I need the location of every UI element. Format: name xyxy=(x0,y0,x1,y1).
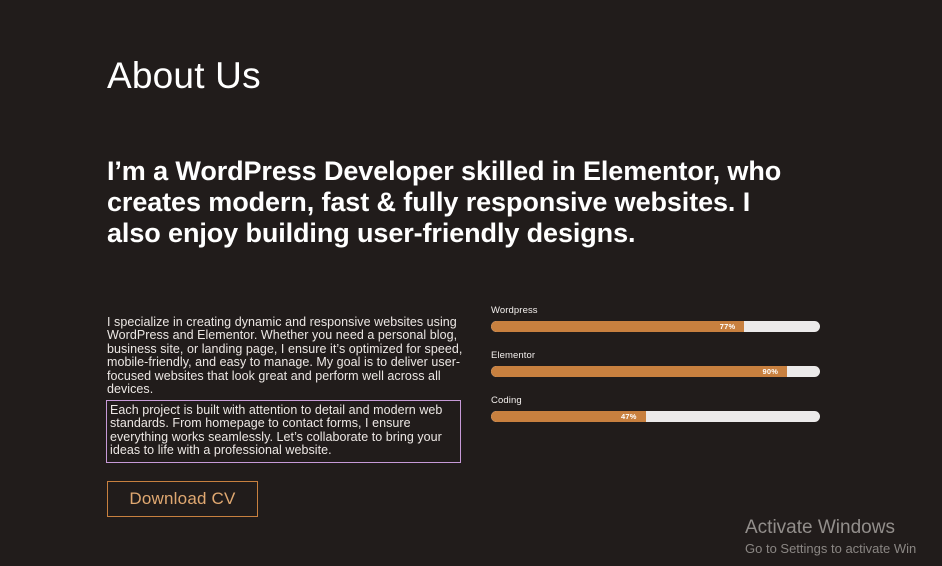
skill-item-coding: Coding 47% xyxy=(491,395,820,422)
skill-progress-fill: 47% xyxy=(491,411,646,422)
about-us-page: About Us I’m a WordPress Developer skill… xyxy=(0,0,942,566)
page-title: About Us xyxy=(107,56,261,97)
skill-progress-track: 90% xyxy=(491,366,820,377)
skill-progress-track: 47% xyxy=(491,411,820,422)
headline: I’m a WordPress Developer skilled in Ele… xyxy=(107,156,807,249)
lead-paragraph: I specialize in creating dynamic and res… xyxy=(107,316,467,398)
skill-progress-fill: 90% xyxy=(491,366,787,377)
watermark-subtitle: Go to Settings to activate Win xyxy=(745,540,942,557)
skill-progress-fill: 77% xyxy=(491,321,744,332)
highlighted-paragraph[interactable]: Each project is built with attention to … xyxy=(106,400,461,463)
windows-activation-watermark: Activate Windows Go to Settings to activ… xyxy=(745,516,942,557)
skills-list: Wordpress 77% Elementor 90% Coding 47% xyxy=(491,305,820,422)
skill-percent-label: 90% xyxy=(762,368,787,376)
skill-progress-track: 77% xyxy=(491,321,820,332)
skill-item-elementor: Elementor 90% xyxy=(491,350,820,377)
skill-item-wordpress: Wordpress 77% xyxy=(491,305,820,332)
skill-percent-label: 77% xyxy=(720,323,745,331)
skill-label: Wordpress xyxy=(491,305,820,316)
skill-label: Coding xyxy=(491,395,820,406)
skill-label: Elementor xyxy=(491,350,820,361)
download-cv-button[interactable]: Download CV xyxy=(107,481,258,517)
skill-percent-label: 47% xyxy=(621,413,646,421)
watermark-title: Activate Windows xyxy=(745,516,942,540)
